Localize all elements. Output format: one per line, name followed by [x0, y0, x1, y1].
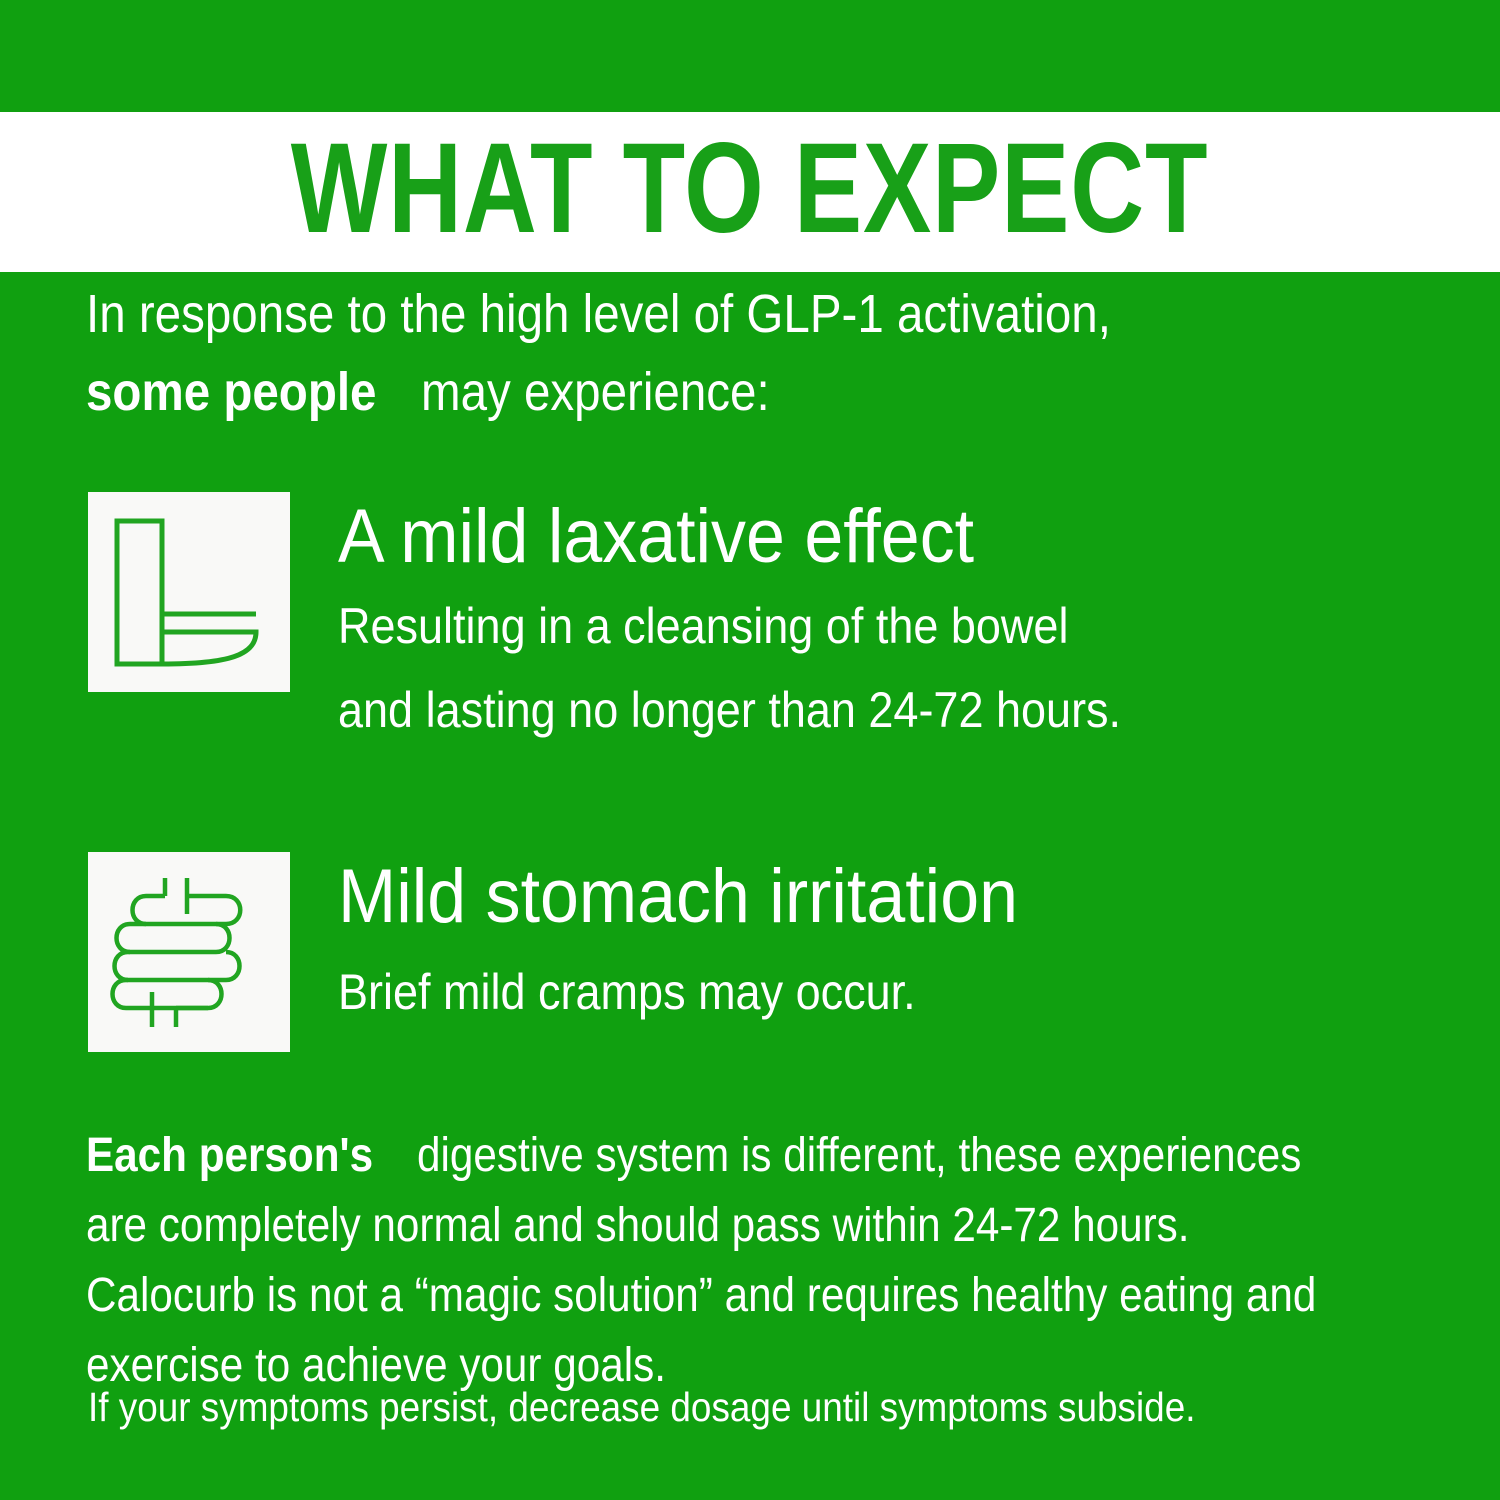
closing-line-3-text: Calocurb is not a “magic solution” and r…: [86, 1266, 1316, 1325]
footnote-text: If your symptoms persist, decrease dosag…: [88, 1382, 1195, 1432]
symptom-text-laxative: A mild laxative effect Resulting in a cl…: [338, 492, 1208, 748]
page-title: WHAT TO EXPECT: [291, 125, 1209, 259]
intro-text-primary: In response to the high level of GLP-1 a…: [86, 282, 1111, 346]
infographic-root: { "colors": { "background_green": "#10A0…: [0, 0, 1500, 1500]
intro-bold-phrase: some people: [86, 360, 376, 424]
footnote: If your symptoms persist, decrease dosag…: [88, 1382, 1468, 1432]
closing-line-2-text: are completely normal and should pass wi…: [86, 1196, 1190, 1255]
closing-line-1: Each person's digestive system is differ…: [86, 1126, 1486, 1196]
symptom-title-laxative: A mild laxative effect: [338, 494, 1138, 580]
closing-line-1-rest: digestive system is different, these exp…: [417, 1126, 1301, 1185]
symptom-title-stomach: Mild stomach irritation: [338, 854, 1018, 940]
closing-paragraph: Each person's digestive system is differ…: [86, 1126, 1486, 1406]
symptom-row-laxative: A mild laxative effect Resulting in a cl…: [88, 492, 1208, 748]
symptom-text-stomach: Mild stomach irritation Brief mild cramp…: [338, 852, 1077, 1030]
intestines-icon: [108, 872, 270, 1032]
title-banner: WHAT TO EXPECT: [0, 112, 1500, 272]
closing-line-3: Calocurb is not a “magic solution” and r…: [86, 1266, 1486, 1336]
toilet-icon-tile: [88, 492, 290, 692]
symptom-sub-stomach-line1: Brief mild cramps may occur.: [338, 954, 1003, 1030]
intro-line-1: In response to the high level of GLP-1 a…: [86, 282, 1426, 360]
toilet-icon: [109, 515, 269, 670]
intro-text-secondary: may experience:: [421, 360, 770, 424]
closing-bold-lead: Each person's: [86, 1126, 373, 1185]
symptom-row-stomach: Mild stomach irritation Brief mild cramp…: [88, 852, 1077, 1052]
intro-paragraph: In response to the high level of GLP-1 a…: [86, 282, 1426, 438]
symptom-sub-laxative-line2: and lasting no longer than 24-72 hours.: [338, 672, 1121, 748]
intestines-icon-tile: [88, 852, 290, 1052]
closing-line-2: are completely normal and should pass wi…: [86, 1196, 1486, 1266]
symptom-sub-laxative-line1: Resulting in a cleansing of the bowel: [338, 588, 1121, 664]
intro-line-2: some people may experience:: [86, 360, 1426, 438]
